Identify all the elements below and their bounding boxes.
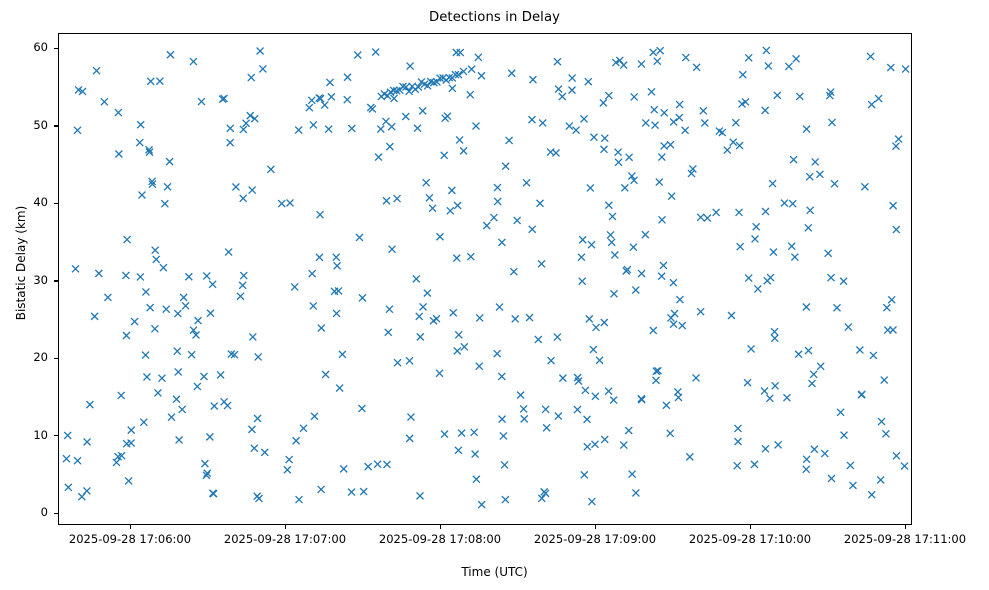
y-tick-mark <box>54 513 58 514</box>
scatter-point <box>697 308 704 315</box>
scatter-point <box>188 351 195 358</box>
scatter-point <box>138 192 145 199</box>
scatter-point <box>293 437 300 444</box>
scatter-point <box>457 49 464 56</box>
scatter-point <box>348 125 355 132</box>
scatter-point <box>125 477 132 484</box>
scatter-point <box>700 107 707 114</box>
scatter-point <box>697 214 704 221</box>
scatter-point <box>232 184 239 191</box>
scatter-point <box>591 441 598 448</box>
scatter-point <box>670 321 677 328</box>
scatter-point <box>653 377 660 384</box>
scatter-point <box>328 93 335 100</box>
scatter-point <box>762 445 769 452</box>
scatter-point <box>654 58 661 65</box>
scatter-point <box>455 331 462 338</box>
scatter-point <box>104 294 111 301</box>
scatter-point <box>358 405 365 412</box>
scatter-point <box>887 64 894 71</box>
scatter-point <box>736 209 743 216</box>
scatter-point <box>667 141 674 148</box>
scatter-point <box>803 126 810 133</box>
scatter-point <box>528 116 535 123</box>
y-tick-mark <box>54 280 58 281</box>
scatter-point <box>793 55 800 62</box>
scatter-point <box>475 54 482 61</box>
scatter-point <box>596 357 603 364</box>
scatter-point <box>601 319 608 326</box>
scatter-point <box>284 466 291 473</box>
scatter-point <box>333 310 340 317</box>
scatter-point <box>638 270 645 277</box>
scatter-point <box>762 208 769 215</box>
scatter-point <box>344 96 351 103</box>
scatter-point <box>543 424 550 431</box>
scatter-point <box>254 415 261 422</box>
scatter-point <box>115 109 122 116</box>
y-axis-label: Bistatic Delay (km) <box>14 163 28 363</box>
scatter-point <box>569 87 576 94</box>
scatter-point <box>861 183 868 190</box>
scatter-point <box>638 395 645 402</box>
scatter-point <box>771 335 778 342</box>
scatter-point <box>701 120 708 127</box>
scatter-point <box>811 446 818 453</box>
scatter-point <box>732 119 739 126</box>
scatter-point <box>249 333 256 340</box>
scatter-point <box>374 461 381 468</box>
scatter-point <box>592 393 599 400</box>
x-tick-mark <box>440 525 441 529</box>
x-axis-label: Time (UTC) <box>0 565 989 579</box>
scatter-point <box>761 387 768 394</box>
scatter-point <box>512 315 519 322</box>
scatter-point <box>693 374 700 381</box>
scatter-point <box>454 202 461 209</box>
scatter-point <box>632 287 639 294</box>
scatter-point <box>490 214 497 221</box>
scatter-point <box>494 198 501 205</box>
scatter-point <box>95 270 102 277</box>
scatter-point <box>593 324 600 331</box>
scatter-point <box>476 363 483 370</box>
scatter-point <box>856 346 863 353</box>
scatter-point <box>745 54 752 61</box>
scatter-point <box>893 226 900 233</box>
scatter-point <box>255 353 262 360</box>
scatter-point <box>656 179 663 186</box>
scatter-point <box>210 490 217 497</box>
scatter-point <box>883 304 890 311</box>
scatter-point <box>448 187 455 194</box>
scatter-point <box>248 426 255 433</box>
scatter-point <box>318 325 325 332</box>
scatter-point <box>308 97 315 104</box>
scatter-point <box>745 275 752 282</box>
y-tick-label: 0 <box>0 505 48 519</box>
scatter-point <box>657 47 664 54</box>
scatter-point <box>453 255 460 262</box>
scatter-point <box>769 180 776 187</box>
scatter-point <box>620 442 627 449</box>
scatter-point <box>554 334 561 341</box>
scatter-point <box>828 274 835 281</box>
scatter-point <box>423 179 430 186</box>
scatter-point <box>478 72 485 79</box>
scatter-point <box>882 430 889 437</box>
scatter-point <box>221 398 228 405</box>
scatter-point <box>163 306 170 313</box>
y-tick-mark <box>54 435 58 436</box>
scatter-point <box>254 493 261 500</box>
scatter-point <box>207 310 214 317</box>
scatter-point <box>153 256 160 263</box>
plot-area <box>58 33 912 525</box>
scatter-point <box>180 294 187 301</box>
scatter-point <box>893 452 900 459</box>
x-tick-label: 2025-09-28 17:06:00 <box>50 532 210 546</box>
scatter-point <box>278 200 285 207</box>
scatter-point <box>239 282 246 289</box>
scatter-point <box>816 171 823 178</box>
scatter-point <box>675 394 682 401</box>
scatter-point <box>471 429 478 436</box>
scatter-point <box>388 123 395 130</box>
scatter-point <box>385 329 392 336</box>
scatter-point <box>296 496 303 503</box>
scatter-point <box>243 120 250 127</box>
scatter-point <box>182 302 189 309</box>
scatter-point <box>156 78 163 85</box>
scatter-point <box>682 127 689 134</box>
scatter-point <box>317 211 324 218</box>
scatter-point <box>175 368 182 375</box>
scatter-point <box>326 79 333 86</box>
scatter-point <box>510 268 517 275</box>
scatter-point <box>335 287 342 294</box>
scatter-point <box>166 158 173 165</box>
scatter-point <box>847 462 854 469</box>
scatter-point <box>785 63 792 70</box>
scatter-point <box>247 112 254 119</box>
scatter-point <box>407 63 414 70</box>
scatter-point <box>610 397 617 404</box>
scatter-point <box>147 78 154 85</box>
scatter-point <box>454 347 461 354</box>
scatter-point <box>417 492 424 499</box>
scatter-point <box>574 406 581 413</box>
scatter-point <box>588 241 595 248</box>
scatter-point <box>101 98 108 105</box>
scatter-point <box>227 125 234 132</box>
scatter-point <box>569 75 576 82</box>
scatter-point <box>805 347 812 354</box>
scatter-point <box>185 273 192 280</box>
scatter-point <box>817 363 824 370</box>
scatter-point <box>179 406 186 413</box>
scatter-point <box>803 456 810 463</box>
scatter-point <box>372 49 379 56</box>
scatter-point <box>237 293 244 300</box>
scatter-point <box>803 466 810 473</box>
scatter-point <box>206 433 213 440</box>
scatter-point <box>161 200 168 207</box>
scatter-point <box>176 436 183 443</box>
scatter-point <box>414 125 421 132</box>
scatter-point <box>436 233 443 240</box>
scatter-point <box>806 173 813 180</box>
scatter-point <box>630 244 637 251</box>
scatter-point <box>499 416 506 423</box>
scatter-point <box>523 179 530 186</box>
scatter-point <box>632 489 639 496</box>
scatter-point <box>586 315 593 322</box>
x-tick-label: 2025-09-28 17:10:00 <box>670 532 830 546</box>
scatter-point <box>661 142 668 149</box>
scatter-point <box>730 139 737 146</box>
scatter-point <box>194 383 201 390</box>
scatter-point <box>788 243 795 250</box>
scatter-point <box>467 253 474 260</box>
scatter-point <box>500 432 507 439</box>
scatter-point <box>744 379 751 386</box>
scatter-point <box>467 91 474 98</box>
scatter-point <box>406 357 413 364</box>
scatter-point <box>615 149 622 156</box>
scatter-point <box>573 127 580 134</box>
scatter-point <box>581 471 588 478</box>
scatter-point <box>406 435 413 442</box>
scatter-point <box>458 430 465 437</box>
scatter-point <box>751 461 758 468</box>
scatter-point <box>605 388 612 395</box>
scatter-point <box>831 180 838 187</box>
scatter-point <box>895 136 902 143</box>
scatter-point <box>538 495 545 502</box>
scatter-point <box>394 195 401 202</box>
scatter-point <box>578 254 585 261</box>
scatter-point <box>394 359 401 366</box>
scatter-point <box>128 440 135 447</box>
scatter-point <box>825 250 832 257</box>
y-tick-label: 10 <box>0 428 48 442</box>
scatter-point <box>555 413 562 420</box>
scatter-point <box>608 239 615 246</box>
scatter-point <box>154 389 161 396</box>
scatter-point <box>310 302 317 309</box>
scatter-point <box>426 194 433 201</box>
scatter-point <box>652 122 659 129</box>
scatter-point <box>676 101 683 108</box>
scatter-point <box>142 352 149 359</box>
scatter-point <box>259 65 266 72</box>
scatter-point <box>521 415 528 422</box>
scatter-point <box>295 127 302 134</box>
scatter-point <box>686 453 693 460</box>
scatter-point <box>402 113 409 120</box>
scatter-point <box>316 254 323 261</box>
scatter-point <box>807 207 814 214</box>
scatter-point <box>529 226 536 233</box>
scatter-point <box>344 74 351 81</box>
scatter-point <box>447 207 454 214</box>
scatter-point <box>585 78 592 85</box>
scatter-point <box>775 441 782 448</box>
scatter-point <box>609 213 616 220</box>
scatter-point <box>764 277 771 284</box>
scatter-point <box>321 102 328 109</box>
scatter-point <box>113 459 120 466</box>
scatter-point <box>601 436 608 443</box>
x-tick-mark <box>905 525 906 529</box>
scatter-point <box>476 314 483 321</box>
scatter-point <box>225 249 232 256</box>
scatter-point <box>748 345 755 352</box>
scatter-point <box>391 95 398 102</box>
scatter-point <box>790 156 797 163</box>
y-tick-mark <box>54 125 58 126</box>
x-tick-label: 2025-09-28 17:09:00 <box>515 532 675 546</box>
scatter-point <box>734 462 741 469</box>
scatter-point <box>309 270 316 277</box>
scatter-point <box>538 260 545 267</box>
scatter-point <box>539 119 546 126</box>
scatter-point <box>875 95 882 102</box>
scatter-point <box>520 405 527 412</box>
scatter-point <box>791 254 798 261</box>
scatter-point <box>631 93 638 100</box>
scatter-point <box>502 163 509 170</box>
scatter-point <box>300 425 307 432</box>
scatter-point <box>494 184 501 191</box>
scatter-point <box>74 457 81 464</box>
scatter-point <box>86 401 93 408</box>
scatter-point <box>735 438 742 445</box>
scatter-point <box>147 304 154 311</box>
scatter-point <box>845 324 852 331</box>
scatter-point <box>311 413 318 420</box>
scatter-point <box>168 414 175 421</box>
scatter-point <box>713 209 720 216</box>
scatter-point <box>417 333 424 340</box>
scatter-point <box>584 443 591 450</box>
scatter-point <box>868 491 875 498</box>
scatter-point <box>648 88 655 95</box>
scatter-point <box>436 370 443 377</box>
scatter-point <box>615 159 622 166</box>
scatter-point <box>642 119 649 126</box>
scatter-point <box>286 456 293 463</box>
scatter-point <box>419 107 426 114</box>
scatter-point <box>383 461 390 468</box>
scatter-point <box>261 449 268 456</box>
scatter-point <box>63 455 70 462</box>
scatter-point <box>651 106 658 113</box>
scatter-point <box>739 71 746 78</box>
scatter-point <box>902 66 909 73</box>
scatter-point <box>789 200 796 207</box>
scatter-point <box>356 234 363 241</box>
scatter-point <box>240 195 247 202</box>
scatter-point <box>483 222 490 229</box>
scatter-point <box>601 135 608 142</box>
scatter-point <box>160 264 167 271</box>
scatter-point <box>642 231 649 238</box>
scatter-point <box>828 475 835 482</box>
scatter-point <box>661 109 668 116</box>
scatter-point <box>587 184 594 191</box>
scatter-point <box>752 236 759 243</box>
scatter-point <box>590 134 597 141</box>
scatter-point <box>607 231 614 238</box>
scatter-point <box>174 310 181 317</box>
scatter-point <box>158 375 165 382</box>
scatter-point <box>151 325 158 332</box>
scatter-point <box>478 501 485 508</box>
scatter-point <box>498 239 505 246</box>
scatter-point <box>734 425 741 432</box>
scatter-point <box>765 62 772 69</box>
scatter-point <box>849 482 856 489</box>
scatter-point <box>535 336 542 343</box>
scatter-point <box>600 99 607 106</box>
scatter-point <box>762 107 769 114</box>
scatter-point <box>610 290 617 297</box>
scatter-point <box>611 252 618 259</box>
scatter-point <box>605 92 612 99</box>
scatter-point <box>389 246 396 253</box>
scatter-point <box>136 139 143 146</box>
scatter-point <box>508 70 515 77</box>
scatter-point <box>201 460 208 467</box>
scatter-point <box>449 85 456 92</box>
scatter-point <box>291 283 298 290</box>
scatter-point <box>360 488 367 495</box>
scatter-point <box>868 101 875 108</box>
scatter-point <box>472 451 479 458</box>
scatter-point <box>456 136 463 143</box>
y-tick-mark <box>54 48 58 49</box>
x-tick-label: 2025-09-28 17:11:00 <box>825 532 985 546</box>
scatter-point <box>526 314 533 321</box>
scatter-series <box>59 34 911 524</box>
scatter-point <box>461 343 468 350</box>
scatter-point <box>810 371 817 378</box>
scatter-point <box>340 465 347 472</box>
scatter-point <box>74 127 81 134</box>
scatter-point <box>473 476 480 483</box>
scatter-point <box>579 236 586 243</box>
scatter-point <box>386 306 393 313</box>
scatter-point <box>772 382 779 389</box>
scatter-point <box>796 93 803 100</box>
scatter-point <box>450 309 457 316</box>
scatter-point <box>676 296 683 303</box>
scatter-point <box>460 147 467 154</box>
scatter-point <box>128 427 135 434</box>
scatter-point <box>821 450 828 457</box>
scatter-point <box>416 313 423 320</box>
scatter-point <box>501 461 508 468</box>
scatter-point <box>152 247 159 254</box>
scatter-point <box>72 265 79 272</box>
scatter-point <box>383 197 390 204</box>
scatter-point <box>287 199 294 206</box>
scatter-point <box>659 216 666 223</box>
scatter-point <box>167 51 174 58</box>
scatter-point <box>502 496 509 503</box>
